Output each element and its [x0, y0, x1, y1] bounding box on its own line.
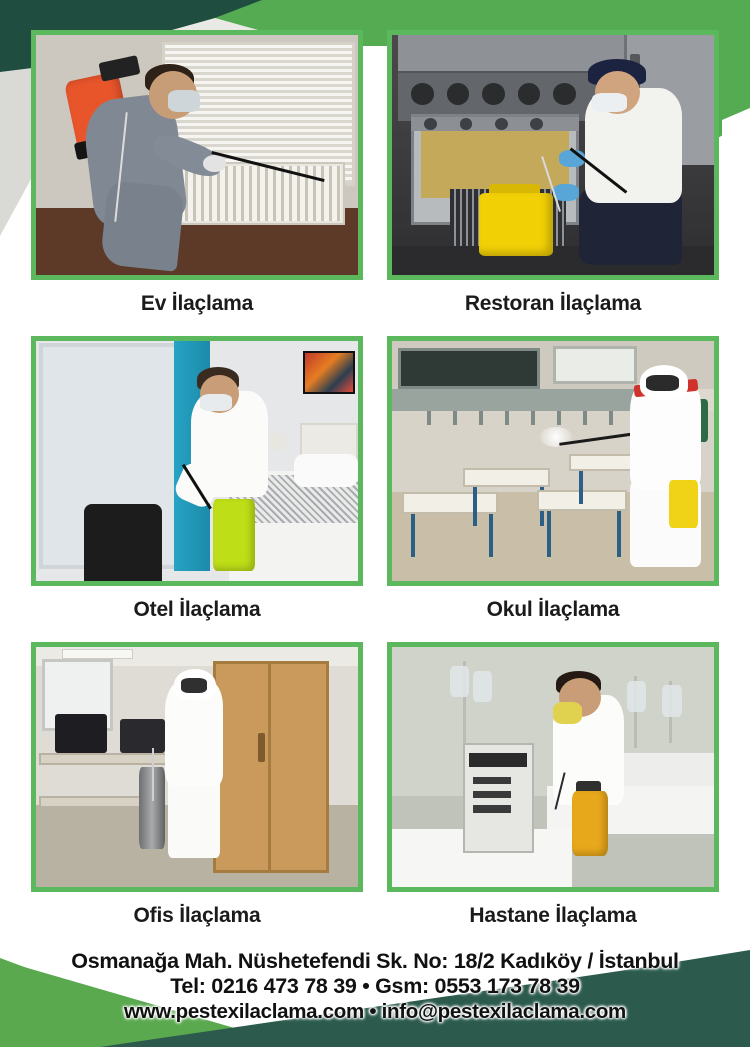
footer-address: Osmanağa Mah. Nüshetefendi Sk. No: 18/2 …: [0, 949, 750, 974]
service-photo-restoran: [387, 30, 719, 280]
photo-scene-school: [392, 341, 714, 581]
card-caption-ev: Ev İlaçlama: [31, 280, 363, 330]
service-card-otel[interactable]: Otel İlaçlama: [31, 336, 363, 636]
photo-scene-home: [36, 35, 358, 275]
service-card-ev[interactable]: Ev İlaçlama: [31, 30, 363, 330]
right-white-carve: [722, 108, 750, 300]
footer-text-group: Osmanağa Mah. Nüshetefendi Sk. No: 18/2 …: [0, 949, 750, 1024]
footer-contact-block: Osmanağa Mah. Nüshetefendi Sk. No: 18/2 …: [0, 935, 750, 1047]
footer-phones[interactable]: Tel: 0216 473 78 39 • Gsm: 0553 173 78 3…: [0, 974, 750, 999]
service-card-grid: Ev İlaçlama: [31, 30, 719, 942]
photo-scene-restaurant: [392, 35, 714, 275]
service-photo-okul: [387, 336, 719, 586]
photo-scene-hotel: [36, 341, 358, 581]
footer-web-email[interactable]: www.pestexilaclama.com • info@pestexilac…: [0, 999, 750, 1024]
right-green-band: [714, 0, 750, 140]
card-caption-otel: Otel İlaçlama: [31, 586, 363, 636]
service-photo-hastane: [387, 642, 719, 892]
service-photo-otel: [31, 336, 363, 586]
service-photo-ofis: [31, 642, 363, 892]
service-card-ofis[interactable]: Ofis İlaçlama: [31, 642, 363, 942]
service-photo-ev: [31, 30, 363, 280]
photo-scene-office: [36, 647, 358, 887]
photo-scene-hospital: [392, 647, 714, 887]
service-card-hastane[interactable]: Hastane İlaçlama: [387, 642, 719, 942]
service-card-restoran[interactable]: Restoran İlaçlama: [387, 30, 719, 330]
flyer-page: Ev İlaçlama: [0, 0, 750, 1047]
card-caption-okul: Okul İlaçlama: [387, 586, 719, 636]
service-card-okul[interactable]: Okul İlaçlama: [387, 336, 719, 636]
card-caption-restoran: Restoran İlaçlama: [387, 280, 719, 330]
